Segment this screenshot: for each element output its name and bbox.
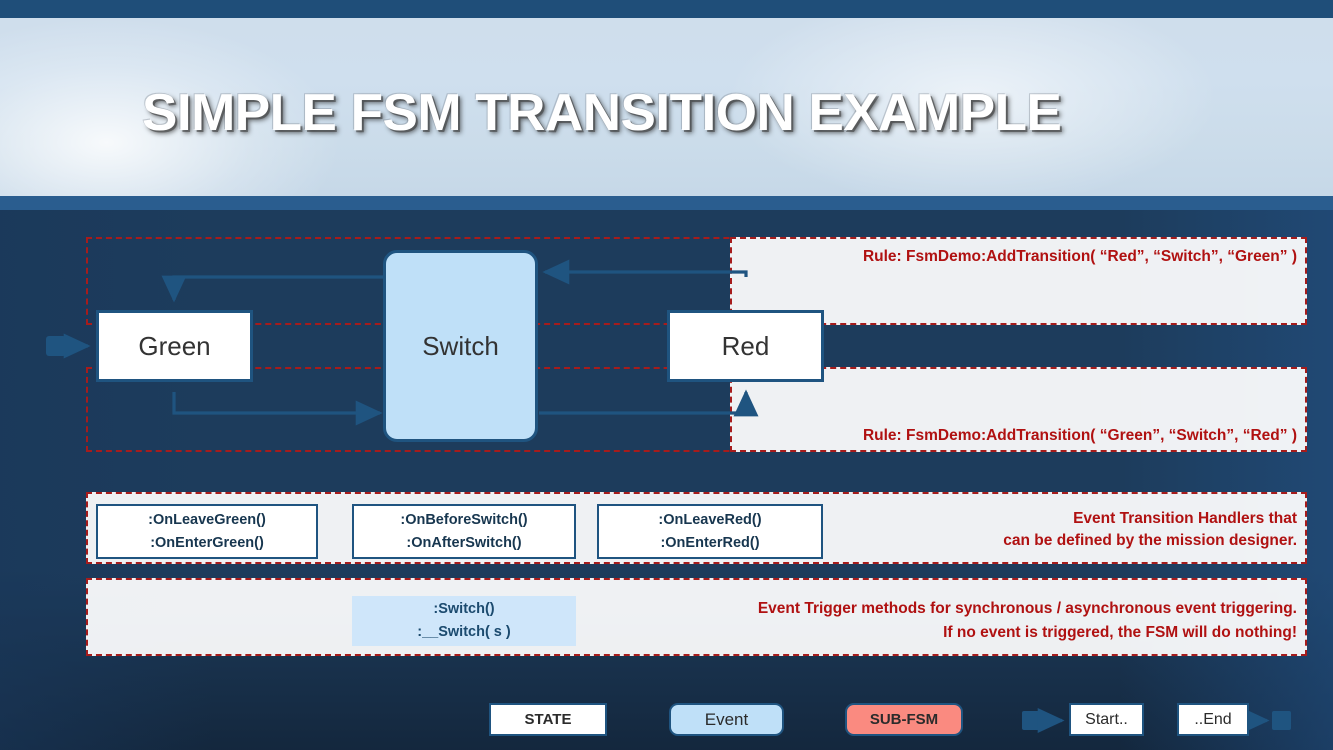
slide-canvas: SIMPLE FSM TRANSITION EXAMPLE Green — [0, 0, 1333, 750]
trigger-switch[interactable]: :Switch() :__Switch( s ) — [352, 596, 576, 646]
event-switch[interactable]: Switch — [383, 250, 538, 442]
handler-green-line2: :OnEnterGreen() — [150, 532, 264, 555]
event-switch-label: Switch — [422, 331, 499, 362]
handler-switch-line1: :OnBeforeSwitch() — [400, 509, 527, 532]
legend-state-label: STATE — [525, 711, 572, 728]
legend-subfsm[interactable]: SUB-FSM — [845, 703, 963, 736]
rule-text-green-to-red: Rule: FsmDemo:AddTransition( “Green”, “S… — [700, 425, 1297, 447]
handler-switch-line2: :OnAfterSwitch() — [406, 532, 521, 555]
trigger-switch-line2: :__Switch( s ) — [417, 621, 510, 644]
state-green[interactable]: Green — [96, 310, 253, 382]
state-green-label: Green — [138, 331, 210, 362]
legend-event[interactable]: Event — [669, 703, 784, 736]
rule-text-red-to-green: Rule: FsmDemo:AddTransition( “Red”, “Swi… — [700, 246, 1297, 268]
legend-end[interactable]: ..End — [1177, 703, 1249, 736]
header-top-strip — [0, 0, 1333, 18]
legend-start-square — [1022, 711, 1041, 730]
handlers-caption-line2: can be defined by the mission designer. — [700, 530, 1297, 552]
page-title: SIMPLE FSM TRANSITION EXAMPLE — [142, 80, 1162, 146]
triggers-caption-line2: If no event is triggered, the FSM will d… — [600, 622, 1297, 644]
handler-green-line1: :OnLeaveGreen() — [148, 509, 266, 532]
state-red-label: Red — [722, 331, 770, 362]
handler-green[interactable]: :OnLeaveGreen() :OnEnterGreen() — [96, 504, 318, 559]
legend-start[interactable]: Start.. — [1069, 703, 1144, 736]
legend-event-label: Event — [705, 710, 748, 730]
handler-switch[interactable]: :OnBeforeSwitch() :OnAfterSwitch() — [352, 504, 576, 559]
fsm-start-marker — [46, 336, 66, 356]
legend-end-square — [1272, 711, 1291, 730]
trigger-switch-line1: :Switch() — [433, 598, 494, 621]
triggers-caption-line1: Event Trigger methods for synchronous / … — [600, 598, 1297, 620]
handlers-caption-line1: Event Transition Handlers that — [700, 508, 1297, 530]
legend-subfsm-label: SUB-FSM — [870, 711, 938, 728]
legend-state[interactable]: STATE — [489, 703, 607, 736]
header-bottom-strip — [0, 196, 1333, 210]
state-red[interactable]: Red — [667, 310, 824, 382]
legend-start-label: Start.. — [1085, 711, 1128, 729]
legend-end-label: ..End — [1194, 711, 1231, 729]
